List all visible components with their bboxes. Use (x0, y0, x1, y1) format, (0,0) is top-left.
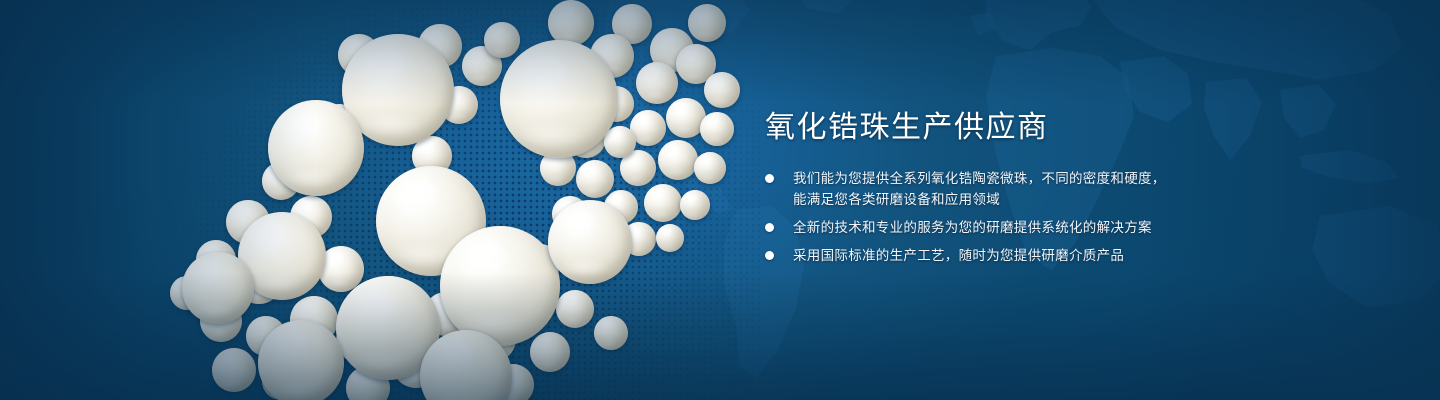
page-title: 氧化锆珠生产供应商 (765, 110, 1365, 146)
bullet-line: 采用国际标准的生产工艺，随时为您提供研磨介质产品 (793, 245, 1365, 266)
bullet-line: 能满足您各类研磨设备和应用领域 (793, 189, 1365, 210)
bullet-dot-icon (765, 174, 774, 183)
bullet-dot-icon (765, 223, 774, 232)
banner-copy-block: 氧化锆珠生产供应商 我们能为您提供全系列氧化锆陶瓷微珠，不同的密度和硬度， 能满… (765, 110, 1365, 273)
bullet-line: 我们能为您提供全系列氧化锆陶瓷微珠，不同的密度和硬度， (793, 168, 1365, 189)
bullet-dot-icon (765, 251, 774, 260)
list-item: 采用国际标准的生产工艺，随时为您提供研磨介质产品 (765, 245, 1365, 266)
feature-bullet-list: 我们能为您提供全系列氧化锆陶瓷微珠，不同的密度和硬度， 能满足您各类研磨设备和应… (765, 168, 1365, 266)
list-item: 全新的技术和专业的服务为您的研磨提供系统化的解决方案 (765, 217, 1365, 238)
list-item: 我们能为您提供全系列氧化锆陶瓷微珠，不同的密度和硬度， 能满足您各类研磨设备和应… (765, 168, 1365, 210)
bullet-line: 全新的技术和专业的服务为您的研磨提供系统化的解决方案 (793, 217, 1365, 238)
hero-banner: 氧化锆珠生产供应商 我们能为您提供全系列氧化锆陶瓷微珠，不同的密度和硬度， 能满… (0, 0, 1440, 400)
